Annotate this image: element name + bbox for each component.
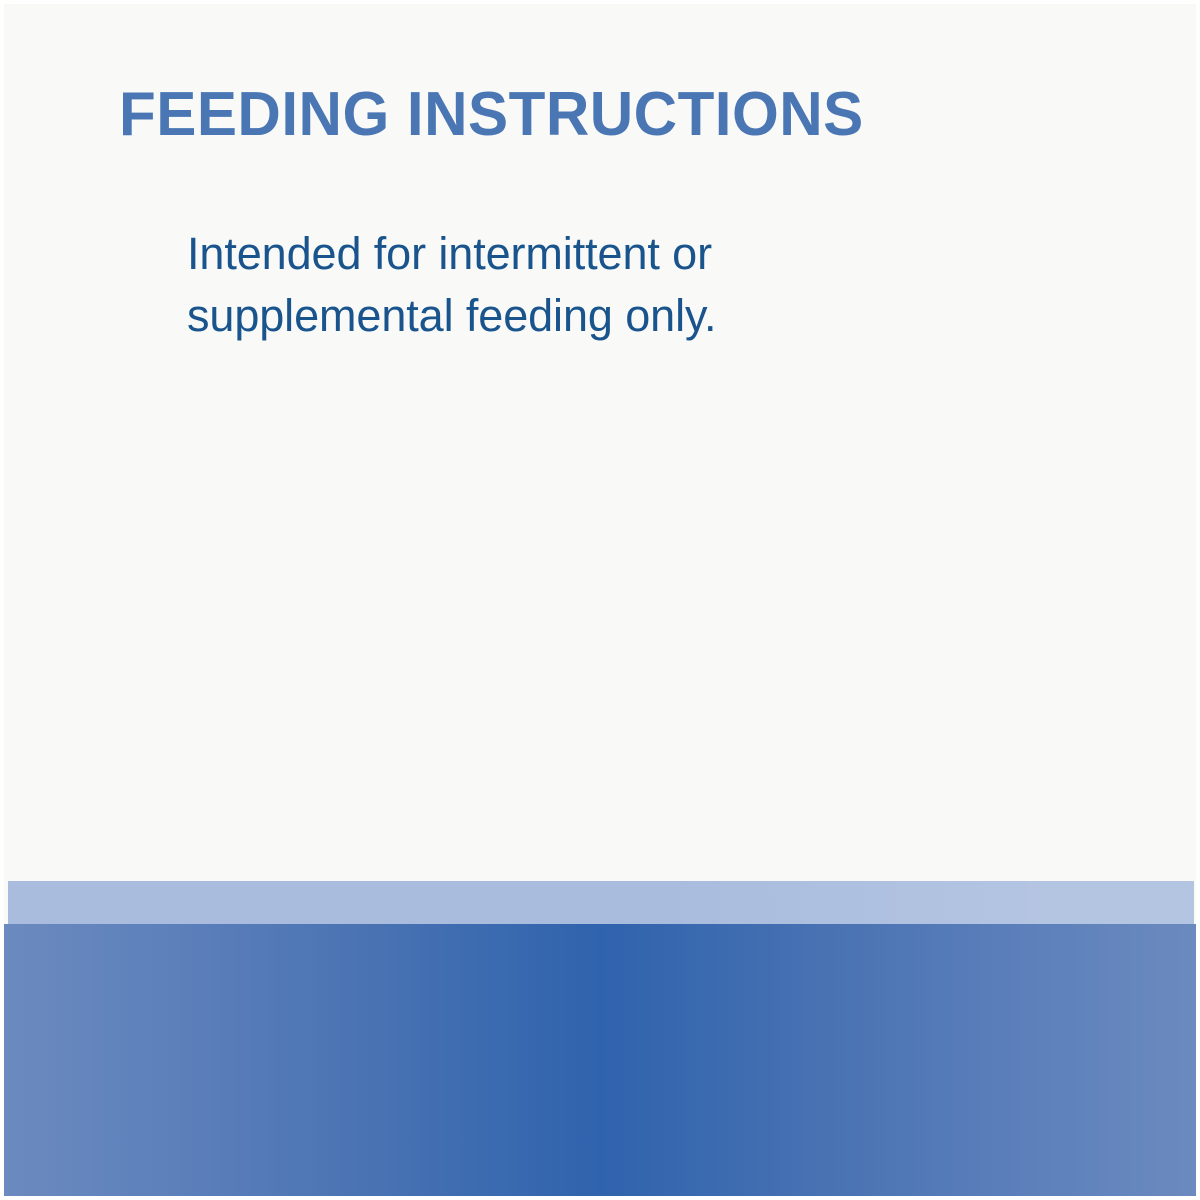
light-accent-band <box>8 881 1194 924</box>
page-surface: FEEDING INSTRUCTIONS Intended for interm… <box>4 4 1196 1196</box>
page-title: FEEDING INSTRUCTIONS <box>119 82 864 147</box>
product-label-panel: FEEDING INSTRUCTIONS Intended for interm… <box>0 0 1200 1200</box>
footer-band-group <box>4 881 1196 1196</box>
instructions-text: Intended for intermittent or supplementa… <box>187 223 887 347</box>
dark-footer-band <box>4 924 1196 1196</box>
